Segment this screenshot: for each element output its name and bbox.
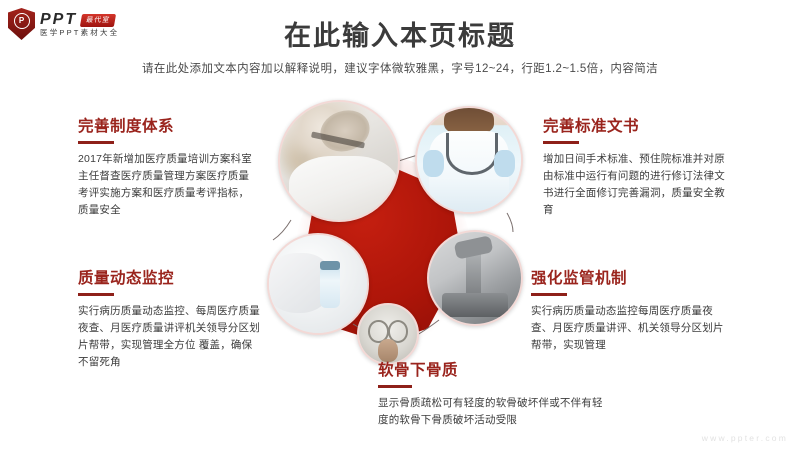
block-heading: 强化监管机制: [531, 266, 727, 288]
heading-rule: [78, 141, 114, 144]
heading-rule: [543, 141, 579, 144]
block-body: 显示骨质疏松可有轻度的软骨破坏伴或不伴有轻度的软骨下骨质破坏活动受限: [378, 395, 604, 429]
block-body: 实行病历质量动态监控、每周医疗质量夜查、月医疗质量讲评机关领导分区划片帮带，实现…: [78, 303, 260, 371]
page-title: 在此输入本页标题: [0, 14, 800, 53]
heading-rule: [78, 293, 114, 296]
block-bottom-center: 软骨下骨质 显示骨质疏松可有轻度的软骨破坏伴或不伴有轻度的软骨下骨质破坏活动受限: [378, 358, 604, 429]
block-heading: 完善标准文书: [543, 114, 729, 136]
block-body: 2017年新增加医疗质量培训方案科室主任督查医疗质量管理方案医疗质量考评实施方案…: [78, 151, 256, 219]
block-heading: 质量动态监控: [78, 266, 260, 288]
page-subtitle: 请在此处添加文本内容加以解释说明，建议字体微软雅黑，字号12~24，行距1.2~…: [0, 60, 800, 76]
phoropter-photo: [357, 303, 419, 365]
block-body: 实行病历质量动态监控每周医疗质量夜查、月医疗质量讲评、机关领导分区划片帮带，实现…: [531, 303, 727, 354]
vial-photo: [267, 233, 369, 335]
surgeon-photo: [278, 100, 400, 222]
block-bottom-left: 质量动态监控 实行病历质量动态监控、每周医疗质量夜查、月医疗质量讲评机关领导分区…: [78, 266, 260, 371]
block-heading: 完善制度体系: [78, 114, 256, 136]
block-heading: 软骨下骨质: [378, 358, 604, 380]
microscope-photo: [427, 230, 523, 326]
block-bottom-right: 强化监管机制 实行病历质量动态监控每周医疗质量夜查、月医疗质量讲评、机关领导分区…: [531, 266, 727, 354]
central-diagram: [255, 98, 545, 398]
heading-rule: [531, 293, 567, 296]
site-watermark: www.ppter.com: [702, 433, 788, 443]
block-top-right: 完善标准文书 增加日间手术标准、预住院标准并对原由标准中运行有问题的进行修订法律…: [543, 114, 729, 219]
block-body: 增加日间手术标准、预住院标准并对原由标准中运行有问题的进行修订法律文书进行全面修…: [543, 151, 729, 219]
nurse-photo: [415, 106, 523, 214]
heading-rule: [378, 385, 412, 388]
block-top-left: 完善制度体系 2017年新增加医疗质量培训方案科室主任督查医疗质量管理方案医疗质…: [78, 114, 256, 219]
slide-canvas: P PPT 最代室 医学PPT素材大全 在此输入本页标题 请在此处添加文本内容加…: [0, 0, 800, 450]
